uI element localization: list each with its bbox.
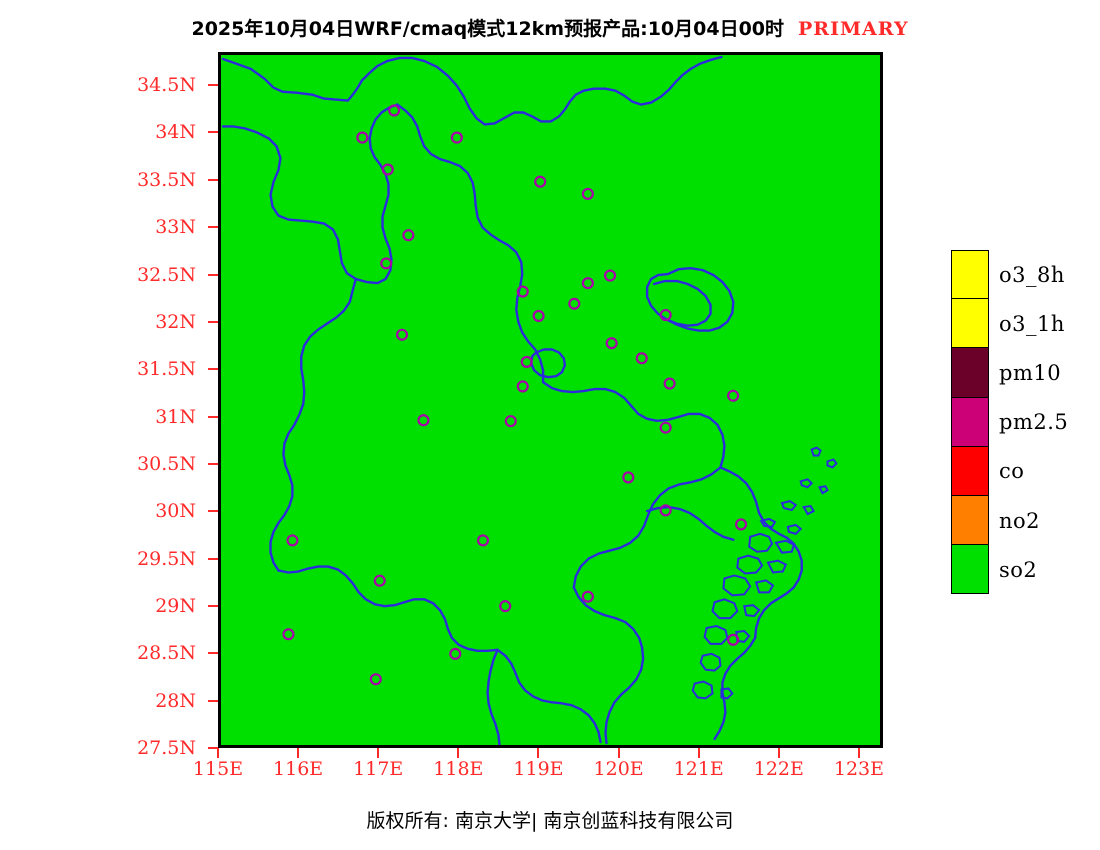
legend-item-o3-8h[interactable]: o3_8h — [951, 250, 1091, 299]
legend-item-label: co — [999, 459, 1024, 483]
x-axis-tick-label: 123E — [834, 758, 884, 780]
legend-color-swatch — [951, 348, 989, 397]
legend-item-no2[interactable]: no2 — [951, 496, 1091, 545]
legend-item-co[interactable]: co — [951, 447, 1091, 496]
x-axis-tick-mark — [698, 748, 700, 758]
legend-item-o3-1h[interactable]: o3_1h — [951, 299, 1091, 348]
x-axis-tick-mark — [377, 748, 379, 758]
legend-item-pm10[interactable]: pm10 — [951, 348, 1091, 397]
legend-color-swatch — [951, 496, 989, 545]
x-axis: 115E116E117E118E119E120E121E122E123E — [0, 0, 1100, 850]
legend-item-label: no2 — [999, 509, 1040, 533]
x-axis-tick-label: 122E — [754, 758, 804, 780]
forecast-map-page: 2025年10月04日WRF/cmaq模式12km预报产品:10月04日00时P… — [0, 0, 1100, 850]
x-axis-tick-mark — [217, 748, 219, 758]
legend-item-label: o3_1h — [999, 312, 1065, 336]
legend-item-pm2-5[interactable]: pm2.5 — [951, 398, 1091, 447]
legend-color-swatch — [951, 299, 989, 348]
legend-color-swatch — [951, 545, 989, 594]
x-axis-tick-mark — [457, 748, 459, 758]
x-axis-tick-mark — [618, 748, 620, 758]
x-axis-tick-label: 115E — [193, 758, 243, 780]
legend-color-swatch — [951, 398, 989, 447]
x-axis-tick-label: 117E — [353, 758, 403, 780]
x-axis-tick-mark — [778, 748, 780, 758]
legend-item-label: so2 — [999, 558, 1037, 582]
legend-item-label: pm10 — [999, 361, 1061, 385]
x-axis-tick-label: 121E — [674, 758, 724, 780]
x-axis-tick-label: 119E — [513, 758, 563, 780]
legend-item-label: o3_8h — [999, 263, 1065, 287]
legend-color-swatch — [951, 447, 989, 496]
legend-item-so2[interactable]: so2 — [951, 545, 1091, 594]
x-axis-tick-label: 116E — [273, 758, 323, 780]
copyright-footer: 版权所有: 南京大学| 南京创蓝科技有限公司 — [0, 806, 1100, 833]
x-axis-tick-mark — [537, 748, 539, 758]
x-axis-tick-label: 120E — [594, 758, 644, 780]
legend-color-swatch — [951, 250, 989, 299]
x-axis-tick-label: 118E — [433, 758, 483, 780]
x-axis-tick-mark — [858, 748, 860, 758]
legend-item-label: pm2.5 — [999, 410, 1068, 434]
legend-panel[interactable]: o3_8ho3_1hpm10pm2.5cono2so2 — [951, 250, 1091, 594]
x-axis-tick-mark — [297, 748, 299, 758]
